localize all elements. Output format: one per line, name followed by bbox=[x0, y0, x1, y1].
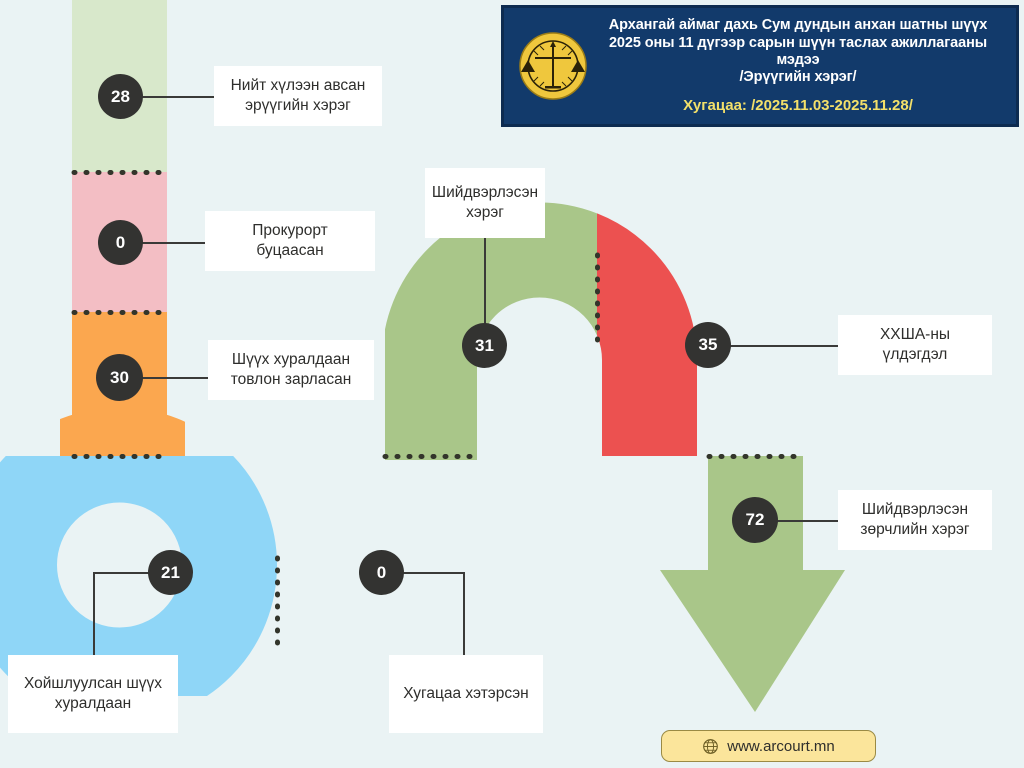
flow-arrow-head bbox=[660, 570, 845, 712]
leader-line-returned-prosecutor bbox=[140, 242, 206, 244]
callout-resolved-case: Шийдвэрлэсэнхэрэг bbox=[425, 168, 545, 238]
website-badge[interactable]: www.arcourt.mn bbox=[661, 730, 876, 762]
header-title-line-3: /Эрүүгийн хэрэг/ bbox=[590, 69, 1006, 86]
bubble-hearing-scheduled: 30 bbox=[96, 354, 143, 401]
callout-overdue: Хугацаа хэтэрсэн bbox=[389, 655, 543, 733]
leader-line-resolved-violation bbox=[774, 520, 838, 522]
header-title-line-2: 2025 оны 11 дүгээр сарын шүүн таслах ажи… bbox=[590, 35, 1006, 69]
header-banner: Архангай аймаг дахь Сум дундын анхан шат… bbox=[501, 5, 1019, 127]
bubble-postponed-hearing: 21 bbox=[148, 550, 193, 595]
callout-returned-prosecutor: Прокурортбуцаасан bbox=[205, 211, 375, 271]
callout-resolved-violation: Шийдвэрлэсэнзөрчлийн хэрэг bbox=[838, 490, 992, 550]
leader-line-overdue-v bbox=[463, 572, 465, 656]
scales-of-justice-emblem bbox=[516, 29, 590, 103]
bubble-resolved-violation: 72 bbox=[732, 497, 778, 543]
callout-total-received: Нийт хүлээн авсанэрүүгийн хэрэг bbox=[214, 66, 382, 126]
leader-line-hearing-scheduled bbox=[140, 377, 208, 379]
leader-line-total-received bbox=[140, 96, 215, 98]
infographic-canvas: Архангай аймаг дахь Сум дундын анхан шат… bbox=[0, 0, 1024, 768]
bubble-overdue: 0 bbox=[359, 550, 404, 595]
bubble-resolved-case: 31 bbox=[462, 323, 507, 368]
header-title-line-1: Архангай аймаг дахь Сум дундын анхан шат… bbox=[590, 17, 1006, 34]
header-period-label: Хугацаа: /2025.11.03-2025.11.28/ bbox=[590, 97, 1006, 115]
leader-line-xxsha-balance bbox=[728, 345, 838, 347]
website-url: www.arcourt.mn bbox=[727, 738, 835, 755]
callout-xxsha-balance: ХХША-ныүлдэгдэл bbox=[838, 315, 992, 375]
bubble-total-received: 28 bbox=[98, 74, 143, 119]
callout-hearing-scheduled: Шүүх хуралдаантовлон зарласан bbox=[208, 340, 374, 400]
bubble-xxsha-balance: 35 bbox=[685, 322, 731, 368]
globe-icon bbox=[702, 738, 719, 755]
leader-line-postponed-hearing-v bbox=[93, 572, 95, 656]
callout-postponed-hearing: Хойшлуулсан шүүххуралдаан bbox=[8, 655, 178, 733]
header-text-block: Архангай аймаг дахь Сум дундын анхан шат… bbox=[590, 17, 1006, 114]
bubble-returned-prosecutor: 0 bbox=[98, 220, 143, 265]
